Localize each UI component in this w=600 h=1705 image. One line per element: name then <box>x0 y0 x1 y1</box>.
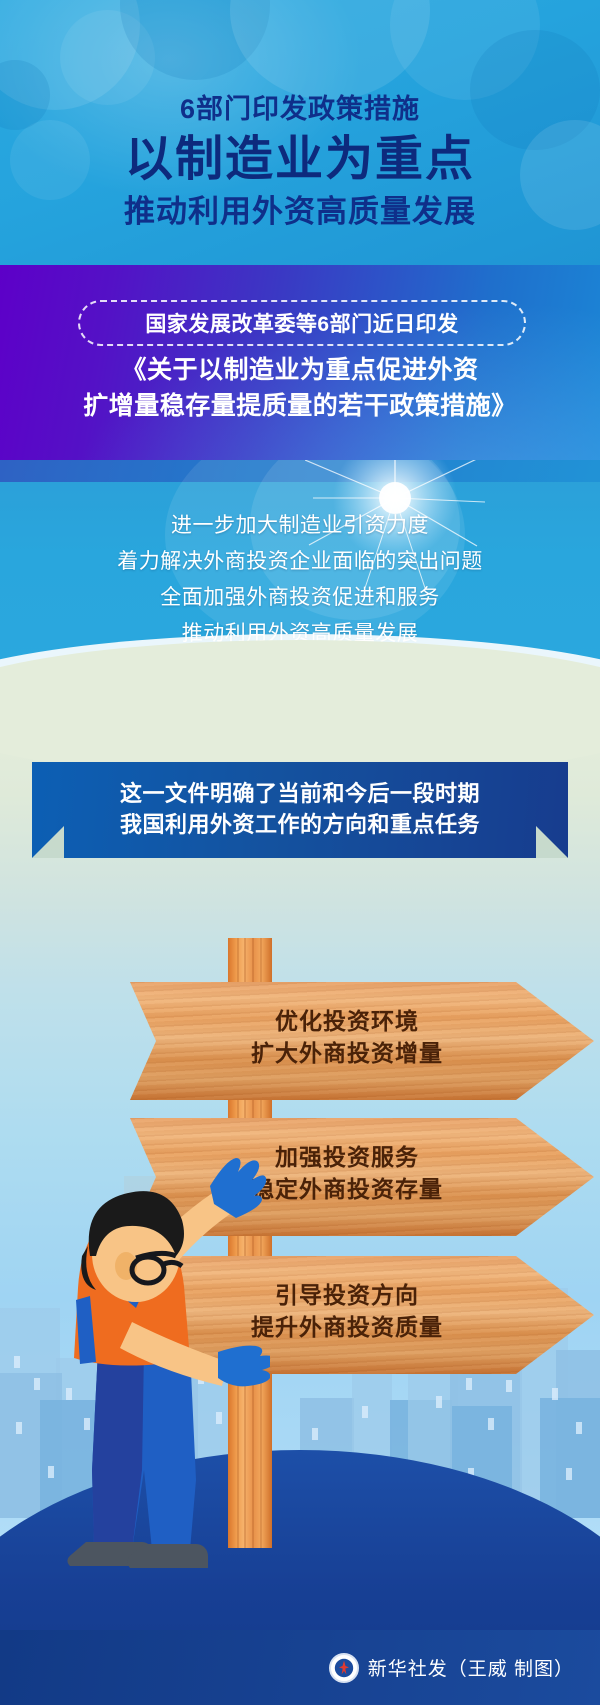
issuer-pill: 国家发展改革委等6部门近日印发 <box>78 300 526 346</box>
document-title-line1: 《关于以制造业为重点促进外资 <box>0 353 600 389</box>
hero-subline: 推动利用外资高质量发展 <box>0 195 600 229</box>
banner-text: 这一文件明确了当前和今后一段时期 我国利用外资工作的方向和重点任务 <box>32 778 568 840</box>
window <box>552 1388 558 1400</box>
point-line: 全面加强外商投资促进和服务 <box>0 580 600 616</box>
footer-bar: 新华社发（王威 制图） <box>0 1630 600 1705</box>
window <box>16 1422 22 1434</box>
xinhua-logo-icon <box>329 1653 359 1683</box>
window <box>466 1378 472 1390</box>
window <box>576 1422 582 1434</box>
points-list: 进一步加大制造业引资力度 着力解决外商投资企业面临的突出问题 全面加强外商投资促… <box>0 508 600 652</box>
banner-line2: 我国利用外资工作的方向和重点任务 <box>32 809 568 840</box>
window <box>566 1468 572 1480</box>
key-message-banner: 这一文件明确了当前和今后一段时期 我国利用外资工作的方向和重点任务 <box>32 762 568 858</box>
credit-group: 新华社发（王威 制图） <box>329 1653 574 1683</box>
document-title-line2: 扩增量稳存量提质量的若干政策措施》 <box>0 389 600 425</box>
document-title: 《关于以制造业为重点促进外资 扩增量稳存量提质量的若干政策措施》 <box>0 353 600 424</box>
hero-headline: 以制造业为重点 <box>0 135 600 185</box>
document-section: 国家发展改革委等6部门近日印发 《关于以制造业为重点促进外资 扩增量稳存量提质量… <box>0 265 600 460</box>
point-line: 进一步加大制造业引资力度 <box>0 508 600 544</box>
window <box>506 1380 512 1392</box>
sign-line1: 优化投资环境 <box>192 1006 502 1038</box>
window <box>488 1418 494 1430</box>
window <box>436 1396 442 1408</box>
window <box>14 1356 20 1368</box>
hero-section: 6部门印发政策措施 以制造业为重点 推动利用外资高质量发展 <box>0 0 600 265</box>
hero-kicker: 6部门印发政策措施 <box>0 95 600 125</box>
footer-credit: 新华社发（王威 制图） <box>368 1654 574 1681</box>
worker-illustration <box>40 1050 270 1595</box>
building <box>540 1398 600 1518</box>
infographic-page: 6部门印发政策措施 以制造业为重点 推动利用外资高质量发展 国家发展改革委等6部… <box>0 0 600 1705</box>
banner-line1: 这一文件明确了当前和今后一段时期 <box>32 778 568 809</box>
issuer-pill-label: 国家发展改革委等6部门近日印发 <box>145 308 458 338</box>
point-line: 着力解决外商投资企业面临的突出问题 <box>0 544 600 580</box>
window <box>362 1406 368 1418</box>
hero-text-block: 6部门印发政策措施 以制造业为重点 推动利用外资高质量发展 <box>0 0 600 229</box>
window <box>312 1428 318 1440</box>
curve-divider <box>0 640 600 780</box>
